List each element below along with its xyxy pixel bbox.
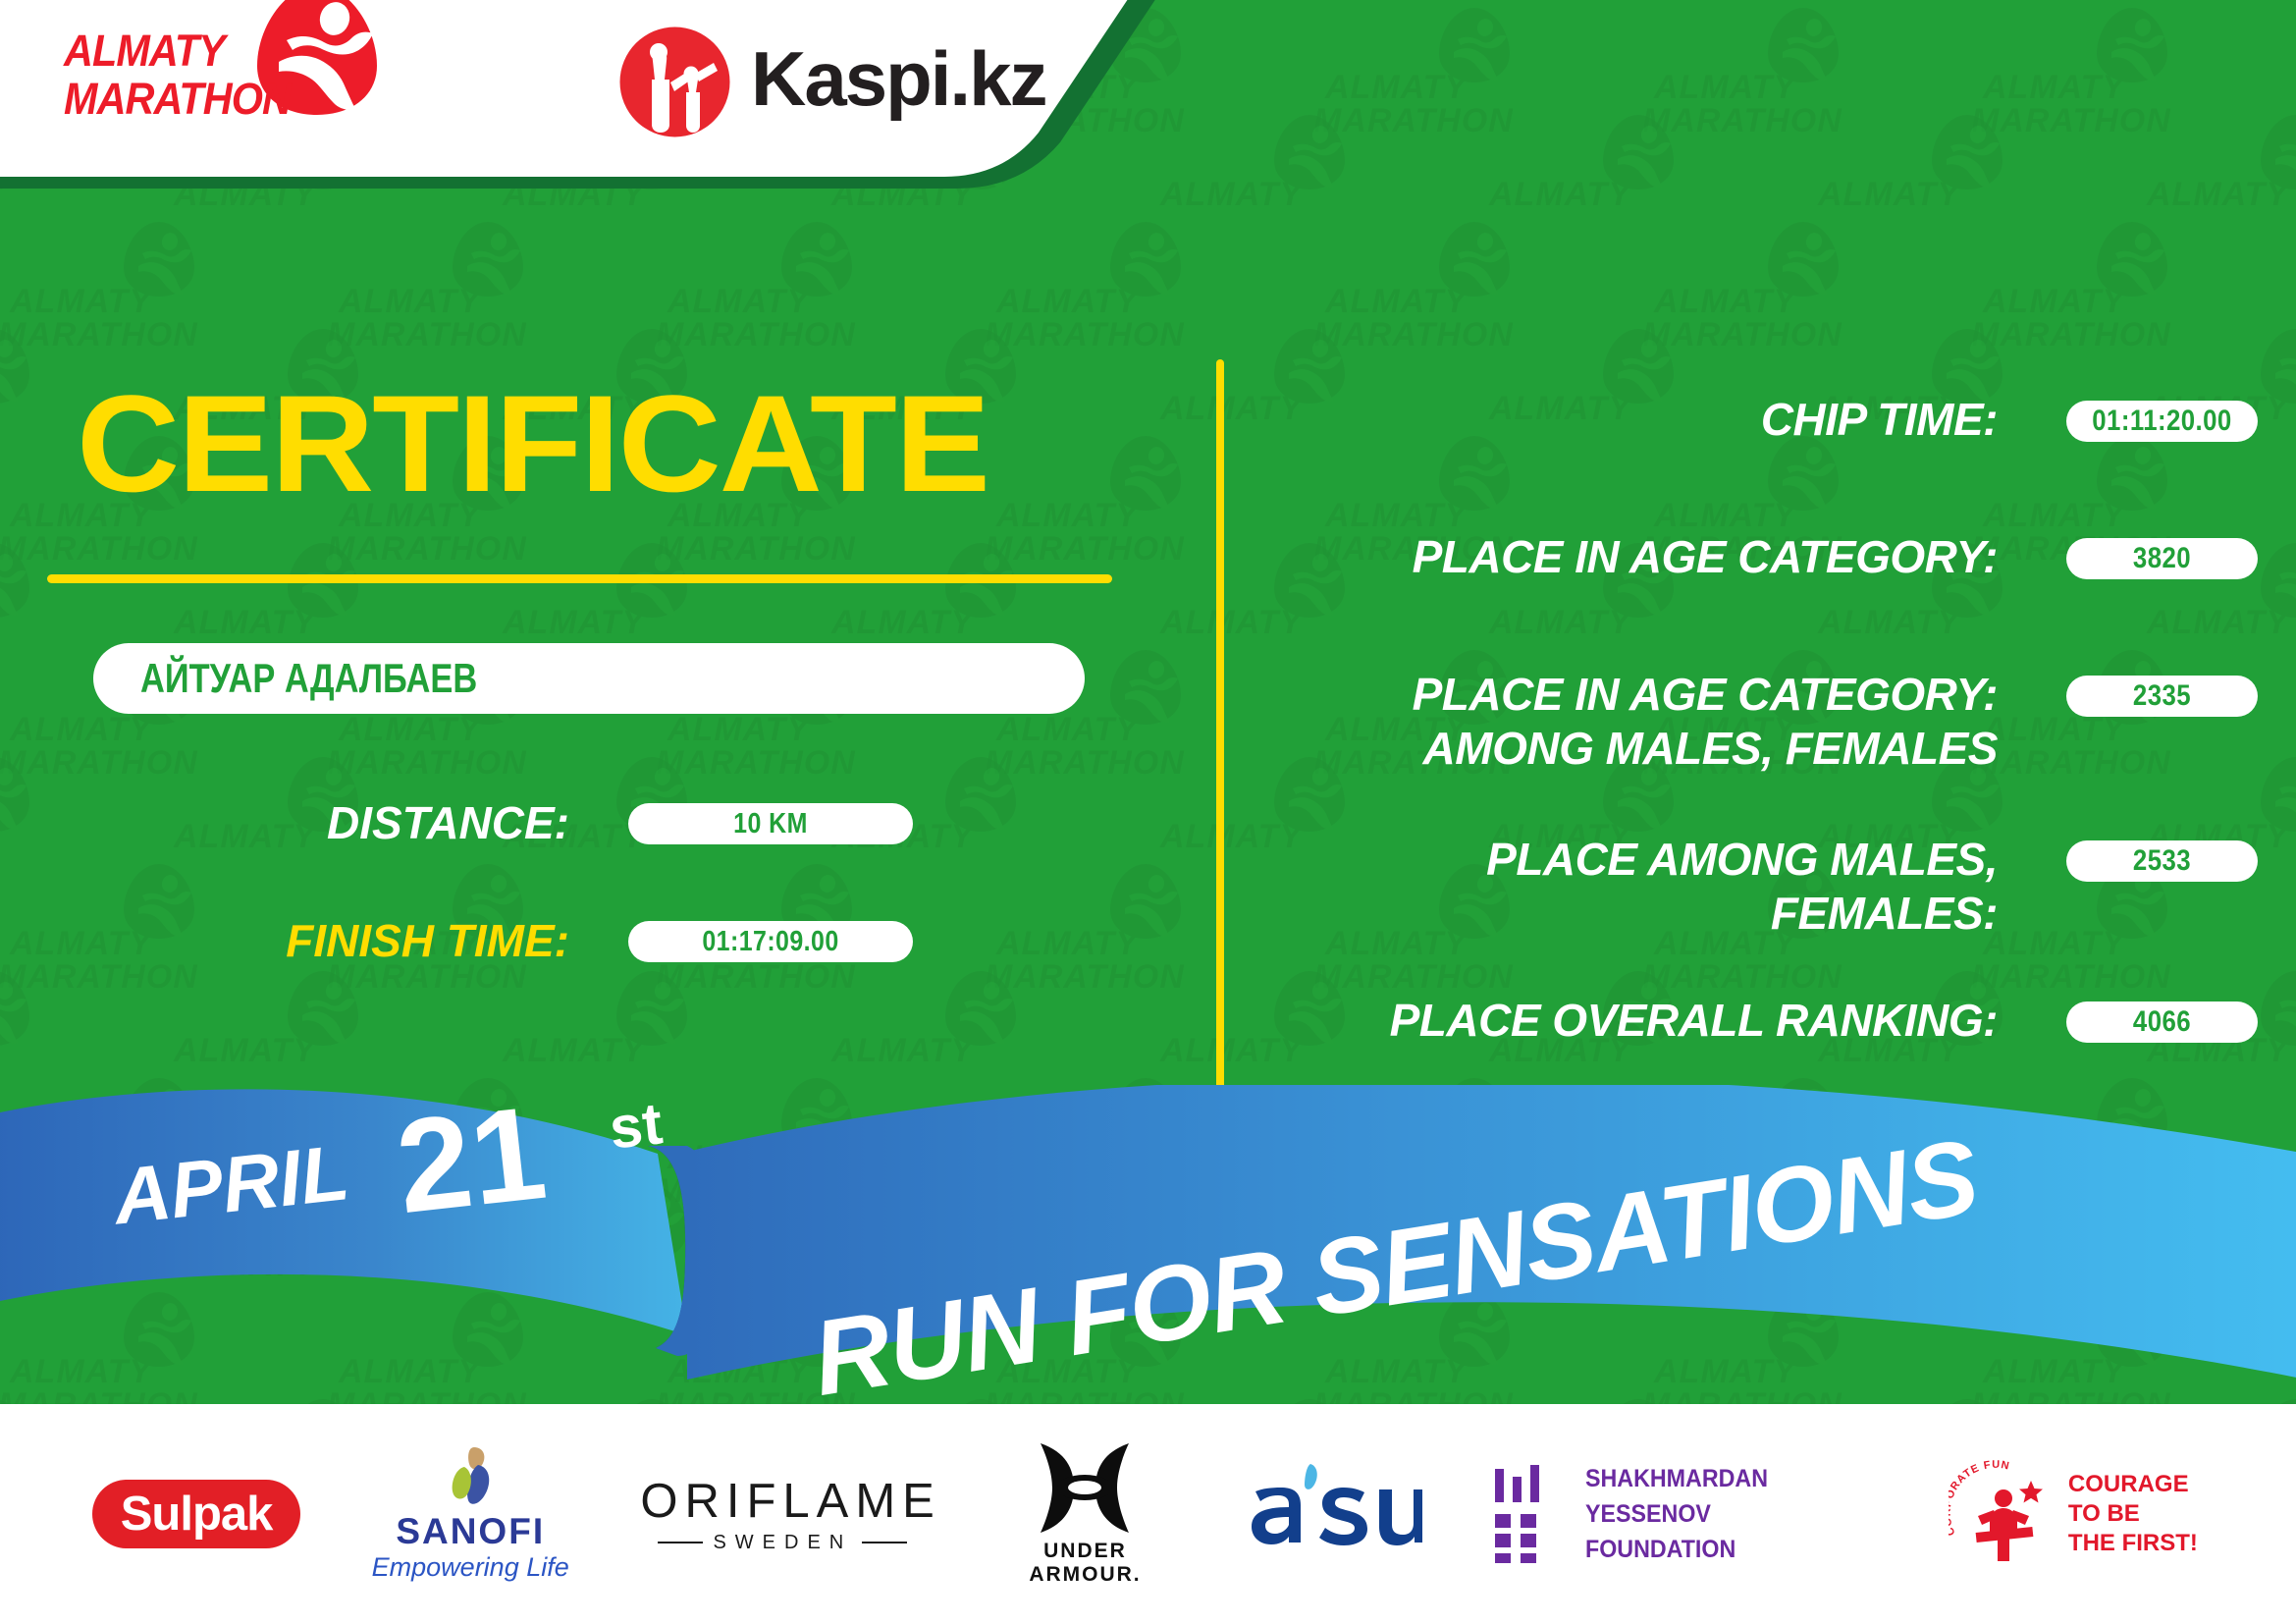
row-finish-time: FINISH TIME: 01:17:09.00 bbox=[245, 913, 913, 970]
sponsors-footer: Sulpak SANOFI Empowering Life ORIFLAME bbox=[0, 1404, 2296, 1624]
corporate-fund-figure-icon: CORPORATE FUND bbox=[1949, 1459, 2058, 1569]
finish-time-label: FINISH TIME: bbox=[286, 915, 569, 966]
asu-logo bbox=[1246, 1458, 1422, 1571]
under-armour-wordmark: UNDER ARMOUR. bbox=[991, 1540, 1178, 1587]
two-figures-circle-icon bbox=[618, 26, 731, 138]
almaty-logo-line2: MARATHON bbox=[64, 75, 272, 123]
place-among-males-females-label-line1: PLACE AMONG MALES, bbox=[1252, 833, 1998, 887]
place-age-category-label: PLACE IN AGE CATEGORY: bbox=[1252, 530, 1998, 584]
yessenov-foundation-line1: SHAKHMARDAN YESSENOV bbox=[1585, 1461, 1861, 1532]
distance-value: 10 KM bbox=[648, 803, 892, 844]
vertical-divider bbox=[1216, 359, 1224, 1101]
corporate-fund-line3: THE FIRST! bbox=[2068, 1529, 2198, 1558]
finish-time-value: 01:17:09.00 bbox=[648, 921, 892, 962]
sanofi-mark-icon bbox=[439, 1445, 502, 1508]
place-age-category-among-value-pill: 2335 bbox=[2066, 676, 2258, 717]
kaspi-logo: Kaspi.kz bbox=[618, 18, 1031, 145]
oriflame-rule-left bbox=[658, 1542, 703, 1543]
sanofi-tagline: Empowering Life bbox=[367, 1551, 573, 1583]
title-underline bbox=[47, 574, 1112, 583]
sponsor-sulpak: Sulpak bbox=[92, 1480, 300, 1548]
under-armour-icon bbox=[1027, 1441, 1143, 1535]
sponsor-yessenov-foundation: SHAKHMARDAN YESSENOV FOUNDATION bbox=[1489, 1461, 1882, 1567]
place-age-category-value: 3820 bbox=[2080, 538, 2245, 579]
oriflame-sub: SWEDEN bbox=[713, 1533, 852, 1552]
sponsor-sanofi: SANOFI Empowering Life bbox=[367, 1445, 573, 1583]
yessenov-foundation-line2: FOUNDATION bbox=[1585, 1532, 1861, 1567]
sponsor-under-armour: UNDER ARMOUR. bbox=[991, 1441, 1178, 1587]
place-among-males-females-label: PLACE AMONG MALES, FEMALES: bbox=[1252, 833, 1998, 941]
sulpak-logo: Sulpak bbox=[92, 1480, 300, 1548]
place-age-category-among-label: PLACE IN AGE CATEGORY: AMONG MALES, FEMA… bbox=[1252, 668, 1998, 776]
sponsor-corporate-fund: CORPORATE FUND COURAGE TO BE THE FIRST! bbox=[1949, 1459, 2204, 1569]
athlete-name-value: АЙТУАР АДАЛБАЕВ bbox=[140, 657, 477, 700]
page-title: CERTIFICATE bbox=[77, 375, 988, 513]
sanofi-wordmark: SANOFI bbox=[367, 1512, 573, 1551]
sponsor-oriflame: ORIFLAME SWEDEN bbox=[640, 1476, 925, 1552]
sponsor-asu bbox=[1246, 1458, 1422, 1571]
yessenov-foundation-icon bbox=[1489, 1465, 1564, 1563]
almaty-marathon-logo: ALMATY MARATHON bbox=[64, 0, 378, 147]
place-age-category-among-value: 2335 bbox=[2080, 676, 2245, 717]
place-overall-ranking-value-pill: 4066 bbox=[2066, 1001, 2258, 1043]
place-among-males-females-value-pill: 2533 bbox=[2066, 840, 2258, 882]
oriflame-wordmark: ORIFLAME bbox=[640, 1476, 925, 1527]
header-panel: ALMATY MARATHON Kaspi.kz bbox=[0, 0, 1217, 275]
place-overall-ranking-value: 4066 bbox=[2080, 1001, 2245, 1043]
finish-time-value-pill: 01:17:09.00 bbox=[628, 921, 913, 962]
chip-time-value: 01:11:20.00 bbox=[2080, 401, 2245, 442]
certificate-canvas: ALMATY MARATHON Kaspi.kz CERTIFICATE bbox=[0, 0, 2296, 1624]
place-among-males-females-label-line2: FEMALES: bbox=[1252, 887, 1998, 941]
chip-time-value-pill: 01:11:20.00 bbox=[2066, 401, 2258, 442]
place-age-category-among-label-line2: AMONG MALES, FEMALES bbox=[1252, 722, 1998, 776]
almaty-logo-line1: ALMATY bbox=[64, 27, 272, 75]
place-among-males-females-value: 2533 bbox=[2080, 840, 2245, 882]
row-distance: DISTANCE: 10 KM bbox=[245, 795, 913, 852]
athlete-name-field: АЙТУАР АДАЛБАЕВ bbox=[93, 643, 1085, 714]
place-age-category-value-pill: 3820 bbox=[2066, 538, 2258, 579]
almaty-marathon-wordmark: ALMATY MARATHON bbox=[64, 27, 272, 123]
place-overall-ranking-label: PLACE OVERALL RANKING: bbox=[1252, 994, 1998, 1048]
kaspi-wordmark: Kaspi.kz bbox=[751, 31, 1045, 126]
ribbon-day: 21 bbox=[391, 1086, 552, 1233]
distance-value-pill: 10 KM bbox=[628, 803, 913, 844]
corporate-fund-line2: TO BE bbox=[2068, 1499, 2198, 1529]
distance-label: DISTANCE: bbox=[327, 797, 569, 848]
oriflame-rule-right bbox=[862, 1542, 907, 1543]
corporate-fund-line1: COURAGE bbox=[2068, 1470, 2198, 1499]
ribbon-day-suffix: st bbox=[607, 1094, 666, 1158]
place-age-category-among-label-line1: PLACE IN AGE CATEGORY: bbox=[1252, 668, 1998, 722]
chip-time-label: CHIP TIME: bbox=[1252, 393, 1998, 447]
